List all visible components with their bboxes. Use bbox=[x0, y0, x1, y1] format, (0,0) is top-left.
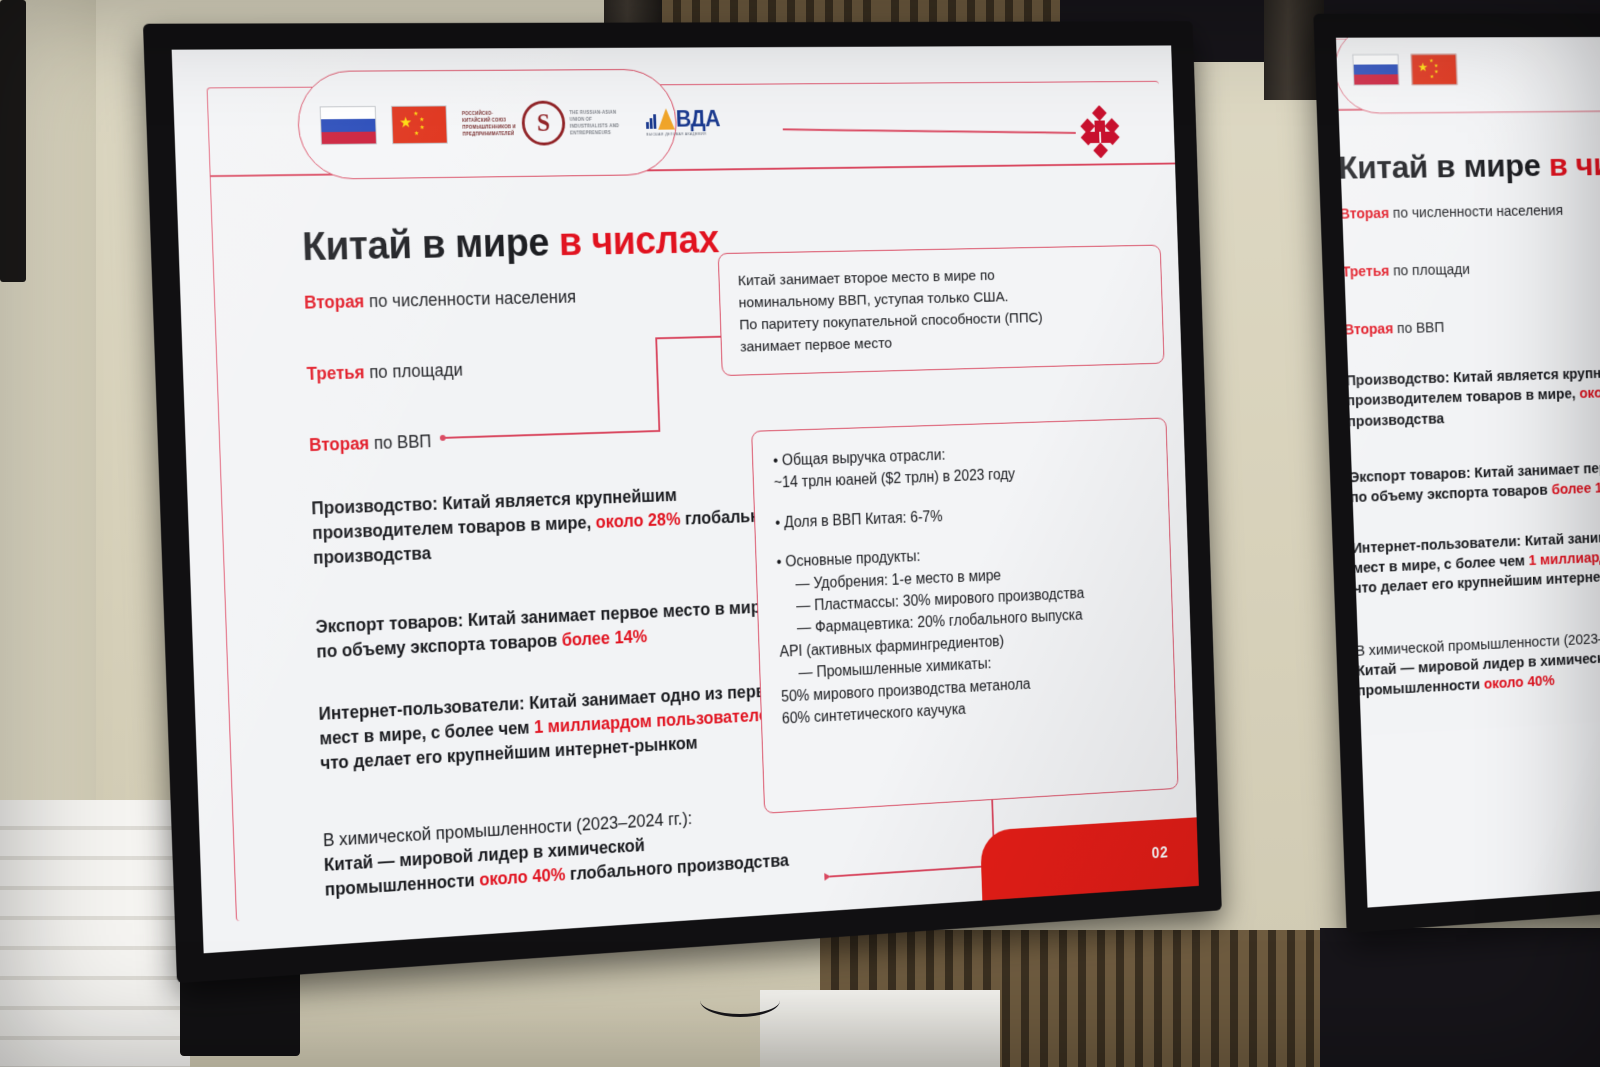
rank-strong: Вторая bbox=[1340, 205, 1390, 222]
text-run-accent: около 40% bbox=[1484, 672, 1555, 692]
vda-bars-icon bbox=[646, 109, 656, 128]
vda-logo: ВДА ВЫСШАЯ ДЕЛОВАЯ АКАДЕМИЯ bbox=[646, 107, 721, 136]
text-run-accent: около 40% bbox=[479, 865, 566, 890]
rank-area: Третья по площади bbox=[306, 360, 463, 385]
title-highlight: в числах bbox=[558, 219, 719, 264]
chemical-stats-box: • Общая выручка отрасли: ~14 трлн юаней … bbox=[751, 417, 1178, 813]
rank-rest: по численности населения bbox=[364, 287, 576, 311]
rank-strong: Третья bbox=[306, 362, 364, 383]
rank-rest: по площади bbox=[1389, 261, 1470, 279]
logo-bar: ★ ★★ ★★ РОССИЙСКО-КИТАЙСКИЙ СОЮЗ ПРОМЫШЛ… bbox=[296, 69, 678, 180]
dark-band-bottom bbox=[1320, 928, 1600, 1067]
china-flag-icon: ★ ★★ ★★ bbox=[1411, 53, 1458, 84]
title-plain: Китай в мире bbox=[301, 221, 559, 269]
rank-strong: Третья bbox=[1342, 263, 1390, 280]
desk-surface bbox=[760, 990, 1000, 1067]
rank-rest: по численности населения bbox=[1389, 202, 1563, 221]
vda-triangle-icon bbox=[657, 108, 674, 129]
russia-flag-icon bbox=[1352, 54, 1399, 86]
wall-rail bbox=[0, 800, 190, 1067]
ceiling-lamp bbox=[0, 0, 26, 282]
text-run-accent: более 14% bbox=[561, 627, 647, 650]
rspp-emblem-icon: S bbox=[521, 101, 566, 146]
page-number: 02 bbox=[1151, 845, 1169, 863]
text-run-accent: более 14% bbox=[1551, 479, 1600, 497]
rspp-mark-letter: S bbox=[537, 111, 551, 135]
bullet-group-revenue: • Общая выручка отрасли: ~14 трлн юаней … bbox=[773, 438, 1149, 495]
bullet-head: • Доля в ВВП Китая: 6-7% bbox=[775, 498, 1150, 535]
logo-bar-mirror: ★ ★★ ★★ bbox=[1336, 37, 1600, 114]
page-title-mirror: Китай в мире в числах bbox=[1338, 147, 1600, 187]
slide-surface: ★ ★★ ★★ РОССИЙСКО-КИТАЙСКИЙ СОЮЗ ПРОМЫШЛ… bbox=[172, 45, 1199, 953]
bullet-group-gdp-share: • Доля в ВВП Китая: 6-7% bbox=[775, 498, 1150, 535]
bullet-group-products: • Основные продукты: — Удобрения: 1-е ме… bbox=[776, 536, 1156, 730]
rspp-en-text: THE RUSSIAN-ASIAN UNION OF INDUSTRIALIST… bbox=[569, 109, 628, 137]
screen-primary: ★ ★★ ★★ РОССИЙСКО-КИТАЙСКИЙ СОЮЗ ПРОМЫШЛ… bbox=[172, 45, 1199, 953]
rspp-ru-text: РОССИЙСКО-КИТАЙСКИЙ СОЮЗ ПРОМЫШЛЕННИКОВ … bbox=[462, 109, 518, 137]
rank-gdp: Вторая по ВВП bbox=[309, 431, 432, 456]
title-plain: Китай в мире bbox=[1338, 149, 1550, 187]
page-title: Китай в мире в числах bbox=[301, 219, 719, 271]
callout-gdp-box: Китай занимает второе место в мире по но… bbox=[718, 245, 1165, 377]
china-flag-icon: ★ ★★ ★★ bbox=[391, 105, 448, 144]
slide-surface-mirror: ★ ★★ ★★ Китай в мире в числах Вторая по … bbox=[1336, 37, 1600, 742]
text-run: производства bbox=[313, 543, 432, 567]
vda-subtitle: ВЫСШАЯ ДЕЛОВАЯ АКАДЕМИЯ bbox=[646, 132, 706, 136]
title-highlight: в числах bbox=[1548, 147, 1600, 183]
rank-strong: Вторая bbox=[304, 291, 365, 312]
monitor-primary: ★ ★★ ★★ РОССИЙСКО-КИТАЙСКИЙ СОЮЗ ПРОМЫШЛ… bbox=[143, 21, 1222, 983]
screen-secondary: ★ ★★ ★★ Китай в мире в числах Вторая по … bbox=[1336, 37, 1600, 908]
text-run-accent: около 28% bbox=[1579, 384, 1600, 402]
rank-rest: по ВВП bbox=[369, 431, 432, 453]
room-photo-scene: ★ ★★ ★★ РОССИЙСКО-КИТАЙСКИЙ СОЮЗ ПРОМЫШЛ… bbox=[0, 0, 1600, 1067]
page-number-badge: 02 bbox=[980, 817, 1199, 900]
rank-strong: Вторая bbox=[309, 433, 370, 455]
endless-knot-icon bbox=[1075, 105, 1125, 158]
rspp-logo: РОССИЙСКО-КИТАЙСКИЙ СОЮЗ ПРОМЫШЛЕННИКОВ … bbox=[462, 100, 629, 146]
rank-rest: по ВВП bbox=[1393, 319, 1445, 336]
rank-gdp-mirror: Вторая по ВВП bbox=[1344, 319, 1445, 338]
rank-strong: Вторая bbox=[1344, 320, 1394, 337]
cable bbox=[700, 984, 780, 1017]
rank-rest: по площади bbox=[364, 360, 463, 382]
russia-flag-icon bbox=[320, 105, 377, 144]
monitor-secondary: ★ ★★ ★★ Китай в мире в числах Вторая по … bbox=[1313, 13, 1600, 933]
text-run-accent: около 28% bbox=[595, 509, 680, 532]
rank-area-mirror: Третья по площади bbox=[1342, 261, 1471, 281]
vda-wordmark: ВДА bbox=[676, 107, 721, 130]
